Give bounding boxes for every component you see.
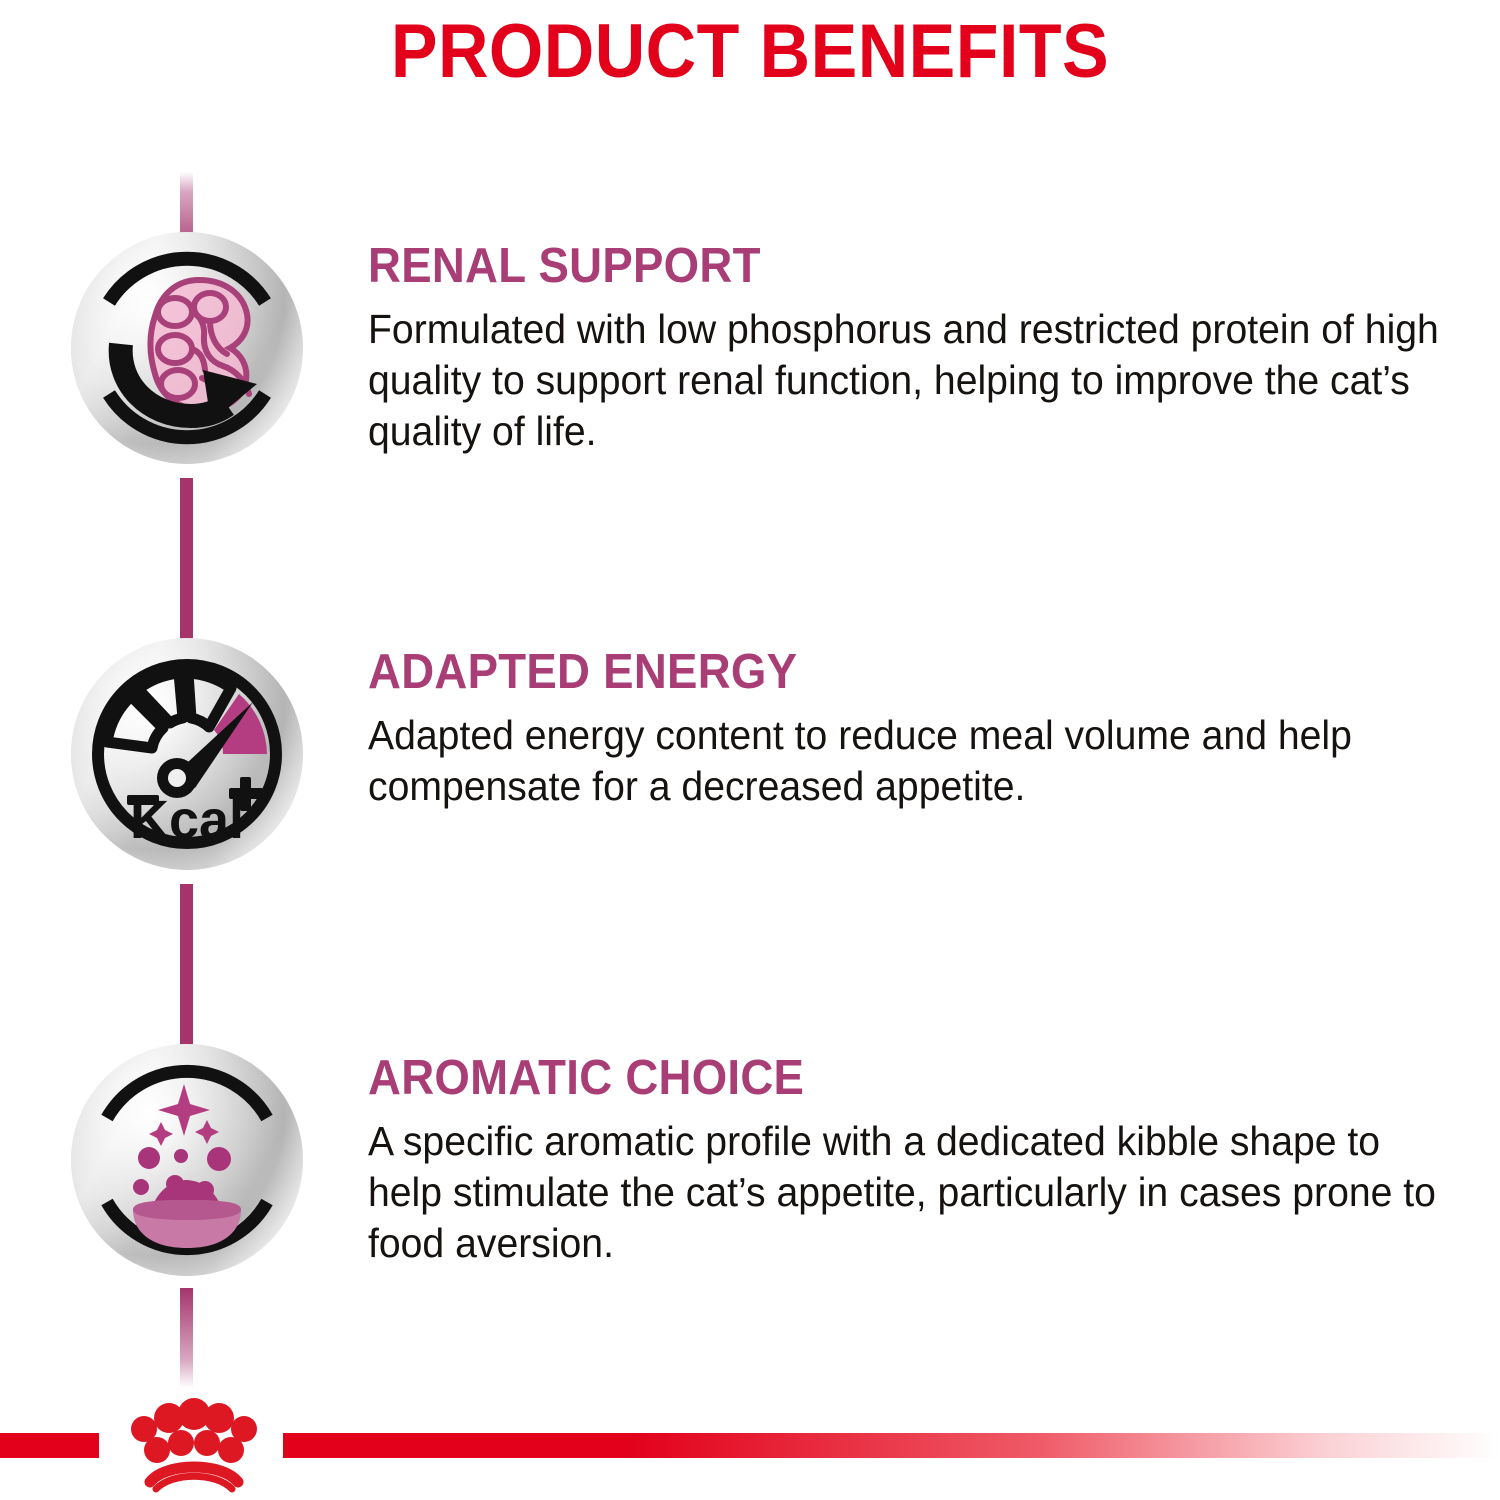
benefit-item-adapted-energy: Kcal ADAPTED ENERGY Adapted energy conte… [0,638,1500,938]
benefit-body: Formulated with low phosphorus and restr… [368,304,1447,457]
kcal-gauge-glyph: Kcal [71,638,303,870]
kcal-gauge-icon: Kcal [71,638,303,870]
benefit-body: Adapted energy content to reduce meal vo… [368,710,1447,812]
benefit-text-block: AROMATIC CHOICE A specific aromatic prof… [368,1050,1498,1269]
benefit-heading: AROMATIC CHOICE [368,1050,1419,1106]
benefit-text-block: ADAPTED ENERGY Adapted energy content to… [368,644,1498,812]
footer-rule-right [283,1433,1500,1458]
benefit-heading: RENAL SUPPORT [368,238,1419,294]
renal-kidney-icon [71,232,303,464]
renal-kidney-glyph [71,232,303,464]
aromatic-bowl-icon [71,1044,303,1276]
benefit-heading: ADAPTED ENERGY [368,644,1419,700]
product-benefits-page: PRODUCT BENEFITS [0,0,1500,1500]
footer-rule-left [0,1433,99,1458]
royal-canin-crown-logo [108,1396,280,1496]
footer [0,1390,1500,1500]
benefit-item-aromatic-choice: AROMATIC CHOICE A specific aromatic prof… [0,1044,1500,1344]
aromatic-bowl-glyph [71,1044,303,1276]
page-title: PRODUCT BENEFITS [60,8,1440,95]
benefit-body: A specific aromatic profile with a dedic… [368,1116,1447,1269]
benefit-text-block: RENAL SUPPORT Formulated with low phosph… [368,238,1498,457]
svg-text:Kcal: Kcal [130,790,244,850]
benefit-item-renal-support: RENAL SUPPORT Formulated with low phosph… [0,232,1500,532]
